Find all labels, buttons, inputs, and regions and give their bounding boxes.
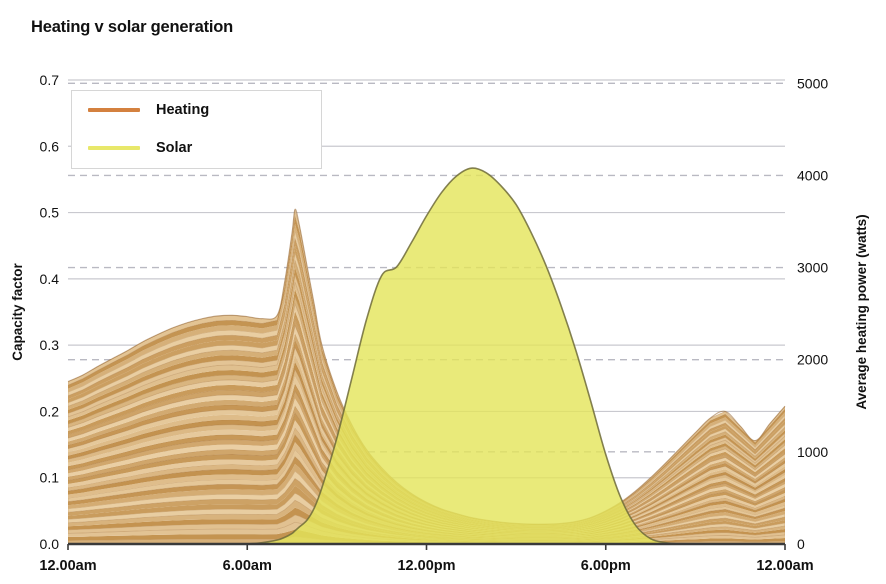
legend-label-heating: Heating bbox=[156, 102, 209, 118]
y-axis-tick-label: 0.3 bbox=[40, 337, 60, 353]
y2-axis-tick-label: 3000 bbox=[797, 260, 828, 276]
y2-axis-tick-label: 4000 bbox=[797, 167, 828, 183]
y2-axis-tick-label: 0 bbox=[797, 536, 805, 552]
y-axis-tick-label: 0.2 bbox=[40, 403, 60, 419]
legend-swatch-heating bbox=[88, 108, 140, 112]
y-axis-title: Capacity factor bbox=[10, 262, 25, 360]
y-axis-tick-label: 0.1 bbox=[40, 470, 60, 486]
y2-axis-tick-label: 5000 bbox=[797, 75, 828, 91]
legend-item-heating[interactable]: Heating bbox=[72, 91, 321, 129]
chart-legend: Heating Solar bbox=[71, 90, 322, 169]
legend-item-solar[interactable]: Solar bbox=[72, 129, 321, 167]
chart-canvas: 0.00.10.20.30.40.50.60.70100020003000400… bbox=[0, 0, 886, 584]
x-axis-tick-label: 6.00am bbox=[223, 558, 272, 574]
y-axis-tick-label: 0.0 bbox=[40, 536, 60, 552]
x-axis-tick-label: 6.00pm bbox=[581, 558, 631, 574]
y-axis-tick-label: 0.5 bbox=[40, 205, 60, 221]
x-axis-tick-label: 12.00am bbox=[39, 558, 96, 574]
y2-axis-tick-label: 1000 bbox=[797, 444, 828, 460]
x-axis-tick-label: 12.00pm bbox=[397, 558, 455, 574]
x-axis-tick-label: 12.00am bbox=[756, 558, 813, 574]
legend-swatch-solar bbox=[88, 146, 140, 150]
y2-axis-title: Average heating power (watts) bbox=[854, 214, 869, 409]
y2-axis-tick-label: 2000 bbox=[797, 352, 828, 368]
y-axis-tick-label: 0.4 bbox=[40, 271, 60, 287]
y-axis-tick-label: 0.7 bbox=[40, 72, 60, 88]
chart-page: Heating v solar generation 0.00.10.20.30… bbox=[0, 0, 886, 584]
y-axis-tick-label: 0.6 bbox=[40, 138, 60, 154]
legend-label-solar: Solar bbox=[156, 140, 192, 156]
